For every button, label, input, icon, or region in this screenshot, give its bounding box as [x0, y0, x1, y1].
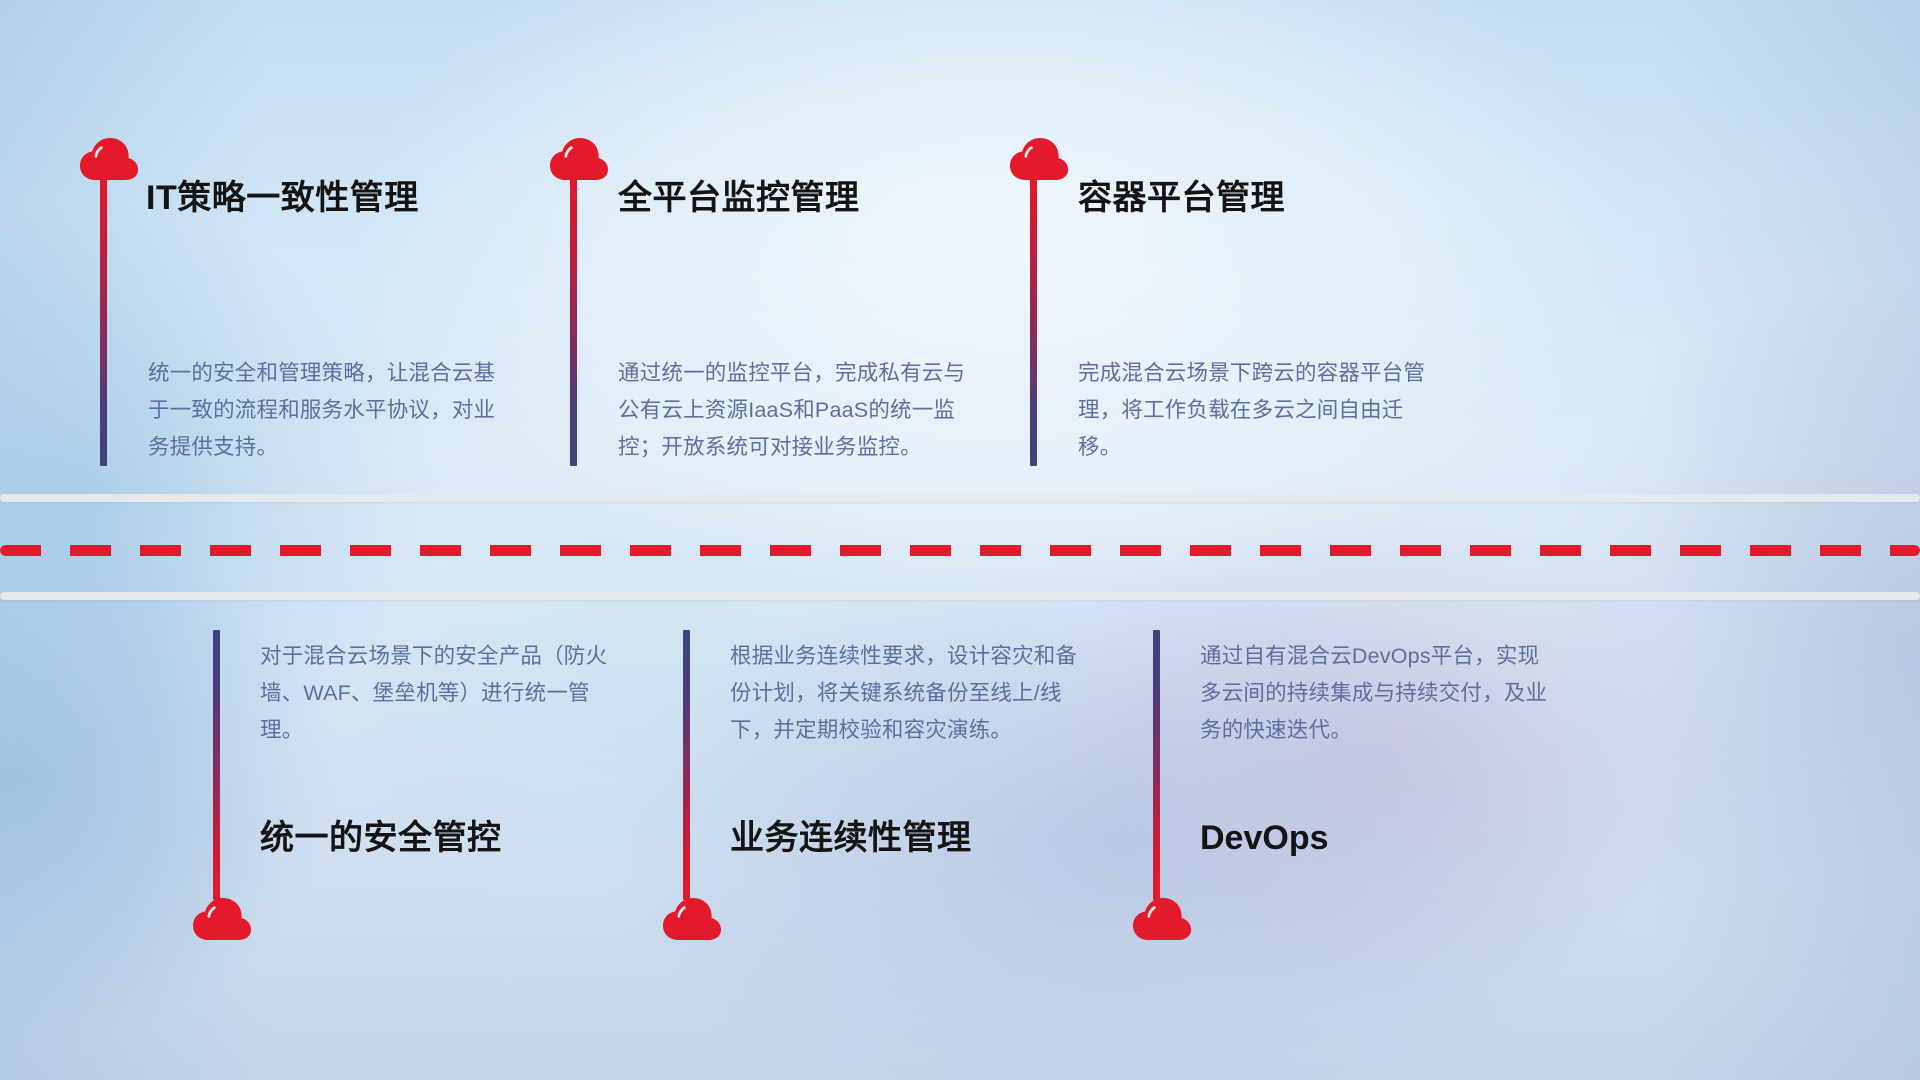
connector-stem	[1153, 630, 1160, 900]
cloud-icon	[661, 893, 723, 941]
bottom-heading-2: 业务连续性管理	[730, 820, 972, 857]
bottom-heading-1: 统一的安全管控	[260, 820, 502, 857]
red-dashed-divider	[0, 545, 1920, 556]
cloud-icon	[191, 893, 253, 941]
divider-band	[0, 0, 1920, 1080]
upper-separator-bar	[0, 494, 1920, 502]
connector-stem	[213, 630, 220, 900]
cloud-icon	[1131, 893, 1193, 941]
connector-stem	[683, 630, 690, 900]
bottom-body-1: 对于混合云场景下的安全产品（防火墙、WAF、堡垒机等）进行统一管理。	[260, 638, 620, 749]
bottom-body-2: 根据业务连续性要求，设计容灾和备份计划，将关键系统备份至线上/线下，并定期校验和…	[730, 638, 1086, 749]
bottom-body-3: 通过自有混合云DevOps平台，实现多云间的持续集成与持续交付，及业务的快速迭代…	[1200, 638, 1552, 749]
lower-separator-bar	[0, 592, 1920, 600]
bottom-heading-3: DevOps	[1200, 820, 1329, 857]
